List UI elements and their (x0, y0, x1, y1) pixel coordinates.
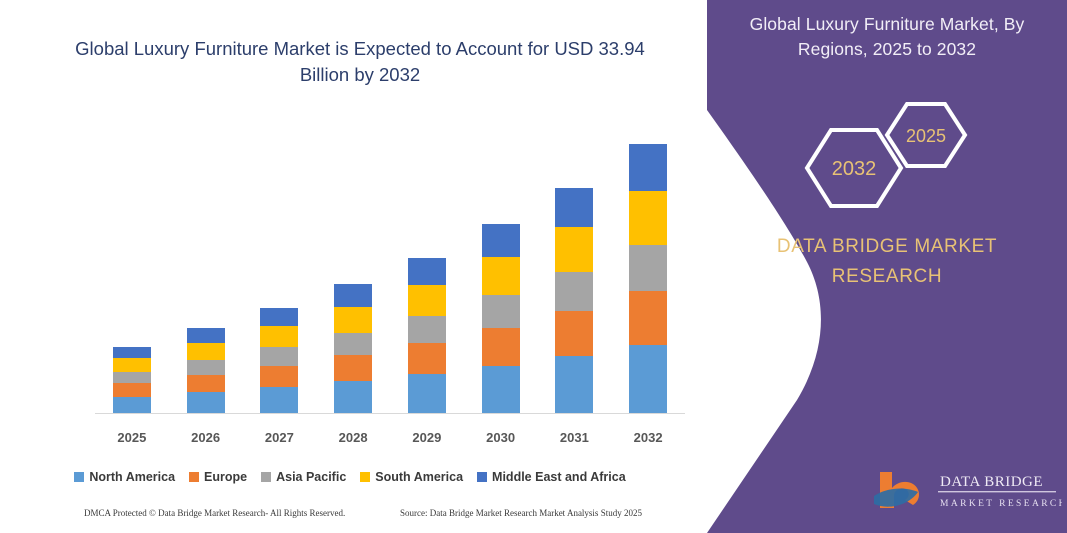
dbmr-logo: DATA BRIDGE MARKET RESEARCH (872, 466, 1062, 514)
bar-segment[interactable] (260, 366, 298, 388)
bar-column-2029[interactable] (392, 258, 462, 414)
bar-segment[interactable] (334, 355, 372, 381)
hexagon-badges: 2032 2025 (787, 96, 1007, 216)
legend-swatch-icon (189, 472, 199, 482)
bar-segment[interactable] (482, 328, 520, 366)
stacked-bar[interactable] (555, 188, 593, 414)
bar-column-2026[interactable] (171, 328, 241, 414)
legend-item[interactable]: North America (74, 470, 175, 484)
bar-segment[interactable] (629, 191, 667, 245)
bar-segment[interactable] (334, 381, 372, 414)
bar-segment[interactable] (629, 291, 667, 345)
footer-copyright: DMCA Protected © Data Bridge Market Rese… (84, 508, 345, 518)
x-axis-label-2030: 2030 (466, 430, 536, 445)
stacked-bar[interactable] (408, 258, 446, 414)
bar-segment[interactable] (555, 188, 593, 227)
bar-segment[interactable] (113, 397, 151, 414)
bar-segment[interactable] (408, 285, 446, 316)
legend-label: Asia Pacific (276, 470, 346, 484)
bar-segment[interactable] (334, 307, 372, 333)
bar-segment[interactable] (113, 383, 151, 397)
bar-segment[interactable] (408, 316, 446, 343)
footer-source: Source: Data Bridge Market Research Mark… (400, 508, 642, 518)
legend-item[interactable]: Asia Pacific (261, 470, 346, 484)
legend-item[interactable]: South America (360, 470, 463, 484)
chart-baseline (95, 413, 685, 415)
bar-segment[interactable] (555, 227, 593, 272)
stacked-bar[interactable] (187, 328, 225, 414)
stacked-bar[interactable] (334, 284, 372, 414)
bar-segment[interactable] (408, 343, 446, 374)
bar-segment[interactable] (408, 258, 446, 285)
bar-segment[interactable] (334, 284, 372, 306)
bar-segment[interactable] (187, 328, 225, 343)
brand-title: DATA BRIDGE MARKET RESEARCH (722, 232, 1052, 292)
bar-segment[interactable] (482, 224, 520, 257)
bar-segment[interactable] (408, 374, 446, 414)
bar-segment[interactable] (260, 387, 298, 414)
legend-item[interactable]: Middle East and Africa (477, 470, 626, 484)
bar-segment[interactable] (187, 375, 225, 392)
bar-segment[interactable] (482, 257, 520, 295)
bar-segment[interactable] (629, 144, 667, 191)
legend-swatch-icon (74, 472, 84, 482)
legend-swatch-icon (477, 472, 487, 482)
legend-label: South America (375, 470, 463, 484)
x-axis-label-2027: 2027 (244, 430, 314, 445)
stacked-bar[interactable] (629, 144, 667, 414)
logo-text-line2: MARKET RESEARCH (940, 499, 1062, 509)
logo-mark-icon (874, 472, 919, 508)
bar-segment[interactable] (260, 326, 298, 348)
bar-column-2025[interactable] (97, 347, 167, 414)
legend-swatch-icon (261, 472, 271, 482)
brand-panel: Global Luxury Furniture Market, By Regio… (677, 0, 1067, 533)
stacked-bar[interactable] (482, 224, 520, 414)
legend-label: North America (89, 470, 175, 484)
x-axis-label-2031: 2031 (539, 430, 609, 445)
legend-label: Europe (204, 470, 247, 484)
infographic-page: Global Luxury Furniture Market is Expect… (0, 0, 1067, 533)
bar-segment[interactable] (482, 366, 520, 414)
bar-segment[interactable] (187, 343, 225, 360)
bar-segment[interactable] (555, 272, 593, 311)
legend-item[interactable]: Europe (189, 470, 247, 484)
bar-column-2030[interactable] (466, 224, 536, 414)
x-axis-label-2032: 2032 (613, 430, 683, 445)
bar-segment[interactable] (555, 356, 593, 414)
x-axis-label-2025: 2025 (97, 430, 167, 445)
x-axis-label-2029: 2029 (392, 430, 462, 445)
bar-segment[interactable] (113, 372, 151, 383)
x-axis-label-2028: 2028 (318, 430, 388, 445)
bar-segment[interactable] (629, 345, 667, 414)
logo-divider (938, 491, 1056, 492)
bar-segment[interactable] (629, 245, 667, 292)
bar-segment[interactable] (187, 392, 225, 414)
legend-swatch-icon (360, 472, 370, 482)
panel-title: Global Luxury Furniture Market, By Regio… (717, 12, 1057, 62)
x-axis-label-2026: 2026 (171, 430, 241, 445)
logo-text-line1: DATA BRIDGE (940, 474, 1043, 490)
bar-segment[interactable] (187, 360, 225, 375)
page-title: Global Luxury Furniture Market is Expect… (75, 36, 645, 88)
bar-column-2032[interactable] (613, 144, 683, 414)
stacked-bar[interactable] (260, 308, 298, 414)
bar-chart-plot (95, 120, 685, 414)
hexagon-2025-label: 2025 (906, 126, 946, 146)
bar-column-2028[interactable] (318, 284, 388, 414)
chart-legend: North AmericaEuropeAsia PacificSouth Ame… (0, 470, 700, 484)
bar-segment[interactable] (113, 358, 151, 372)
bar-segment[interactable] (482, 295, 520, 328)
hexagon-2032-label: 2032 (832, 158, 877, 180)
legend-label: Middle East and Africa (492, 470, 626, 484)
bar-segment[interactable] (113, 347, 151, 358)
bar-segment[interactable] (260, 308, 298, 326)
stacked-bar[interactable] (113, 347, 151, 414)
x-axis-labels: 20252026202720282029203020312032 (95, 423, 685, 445)
bar-segment[interactable] (260, 347, 298, 365)
bar-column-2031[interactable] (539, 188, 609, 414)
bar-segment[interactable] (334, 333, 372, 355)
bar-segment[interactable] (555, 311, 593, 356)
bar-column-2027[interactable] (244, 308, 314, 414)
